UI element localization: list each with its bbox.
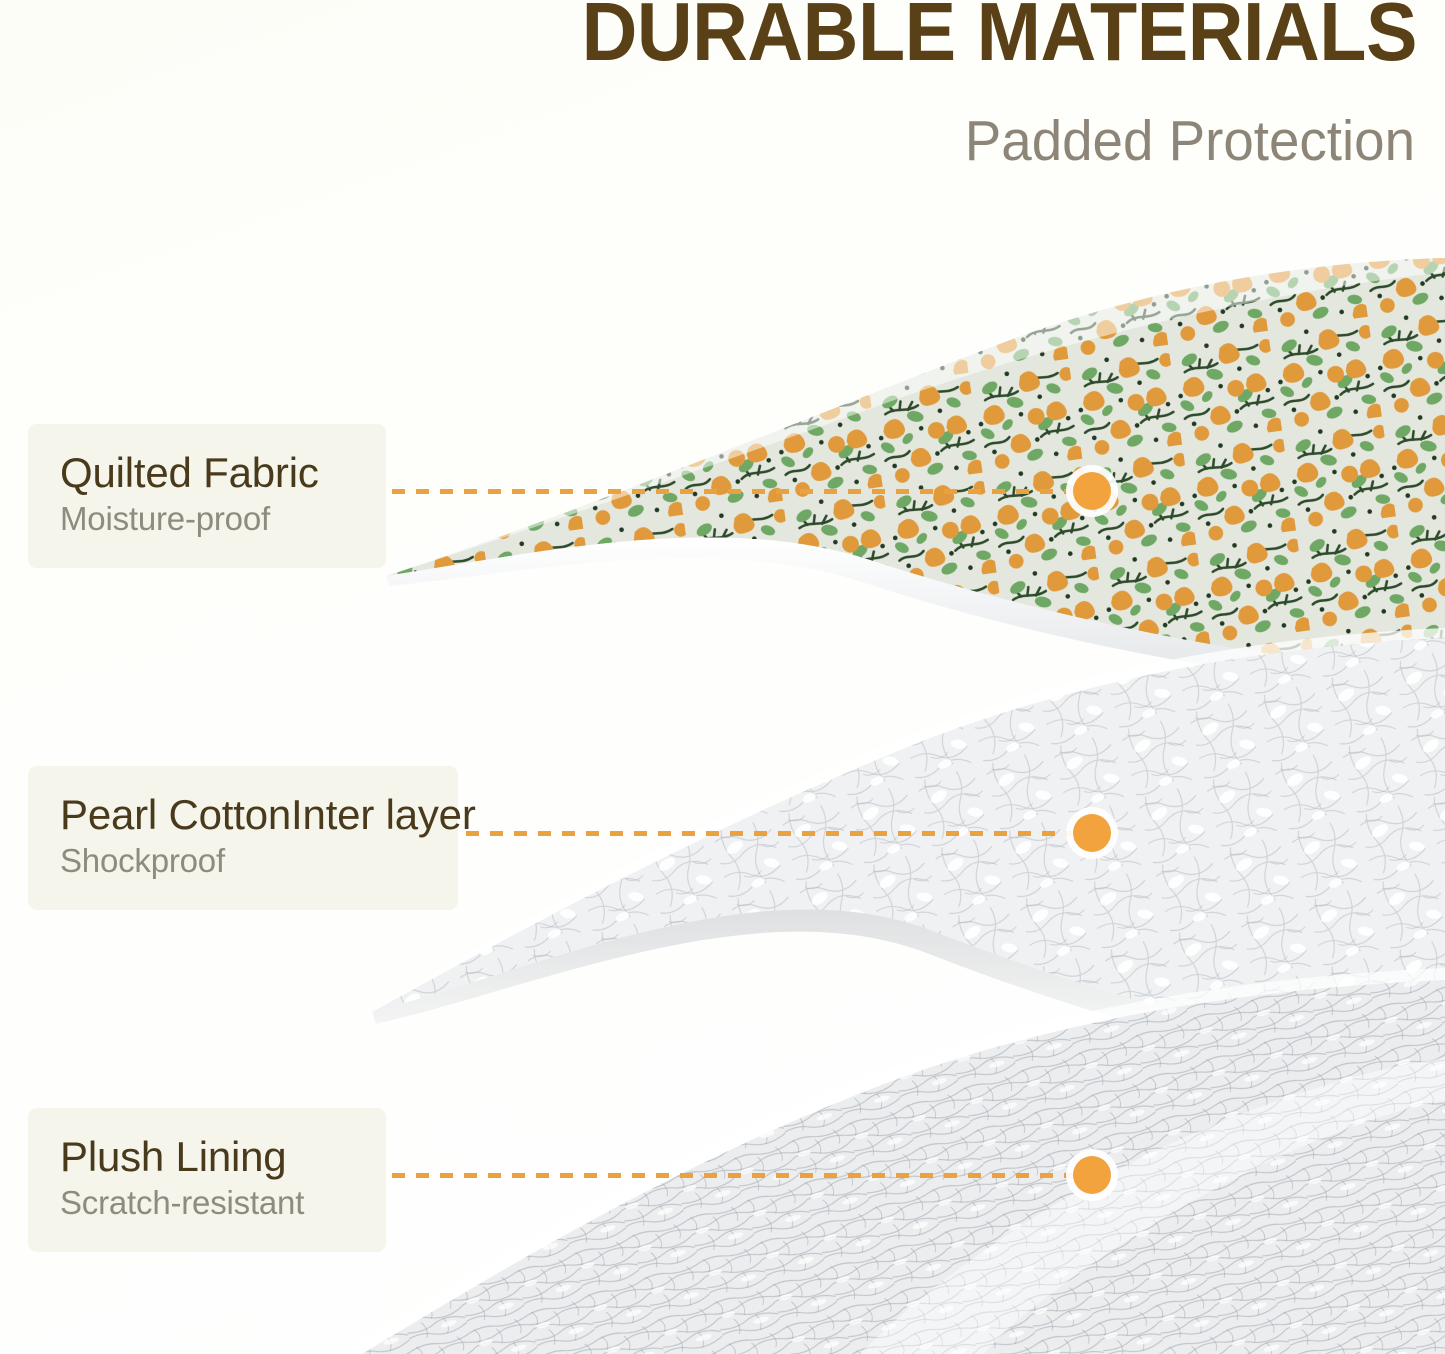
callout-quilted-fabric: Quilted Fabric Moisture-proof (28, 424, 386, 568)
plush-lining-layer (356, 968, 1445, 1354)
leader-line-quilted-fabric (392, 489, 1092, 494)
callout-subtitle: Shockproof (60, 843, 424, 880)
floral-quilted-fabric-layer (386, 258, 1445, 690)
callout-subtitle: Scratch-resistant (60, 1185, 352, 1222)
orange-dot-marker-quilted-fabric (1073, 472, 1111, 510)
callout-title: Plush Lining (60, 1134, 352, 1179)
callout-subtitle: Moisture-proof (60, 501, 352, 538)
callout-title: Pearl CottonInter layer (60, 792, 424, 837)
callout-title: Quilted Fabric (60, 450, 352, 495)
orange-dot-marker-pearl-cotton (1073, 814, 1111, 852)
callout-pearl-cotton-interlayer: Pearl CottonInter layer Shockproof (28, 766, 458, 910)
orange-dot-marker-plush-lining (1073, 1156, 1111, 1194)
leader-line-pearl-cotton (466, 831, 1092, 836)
callout-plush-lining: Plush Lining Scratch-resistant (28, 1108, 386, 1252)
leader-line-plush-lining (392, 1173, 1092, 1178)
infographic-canvas: DURABLE MATERIALS Padded Protection (0, 0, 1445, 1354)
